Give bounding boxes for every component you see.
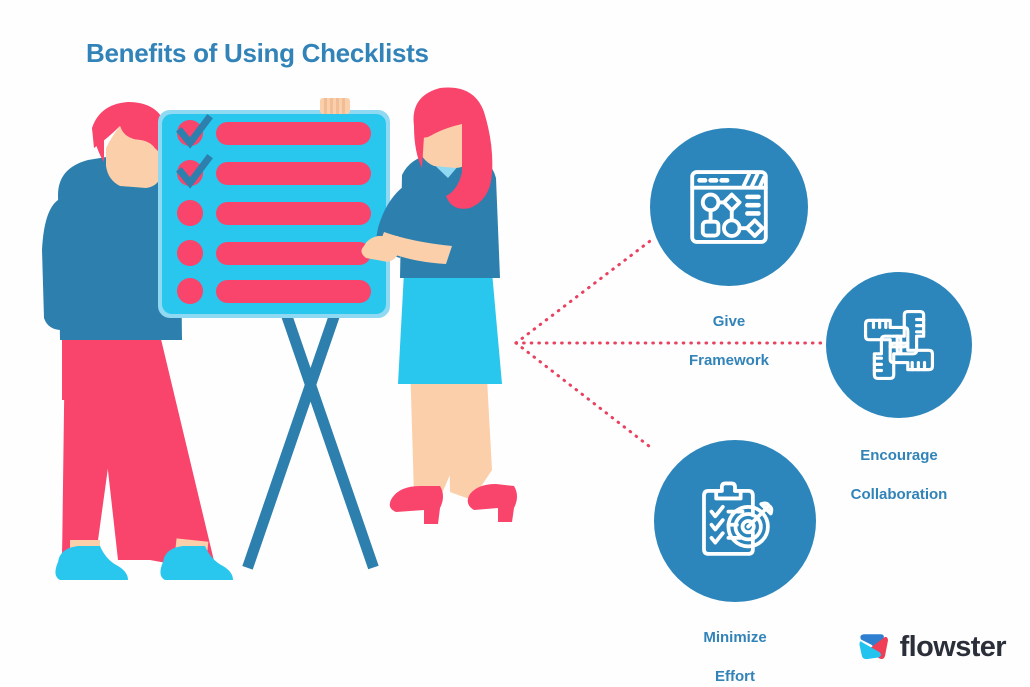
- checklist-illustration: [0, 0, 560, 687]
- node-label-line1: Give: [629, 312, 829, 331]
- node-circle-encourage-collaboration[interactable]: [826, 272, 972, 418]
- node-circle-minimize-effort[interactable]: [654, 440, 816, 602]
- node-label-line1: Encourage: [799, 446, 999, 465]
- node-label-encourage-collaboration: Encourage Collaboration: [799, 427, 999, 523]
- flowster-logo[interactable]: flowster: [855, 629, 1006, 665]
- node-minimize-effort[interactable]: Minimize Effort: [654, 440, 816, 602]
- node-circle-give-framework[interactable]: [650, 128, 808, 286]
- flowchart-icon: [683, 161, 775, 253]
- node-label-line2: Collaboration: [799, 485, 999, 504]
- node-give-framework[interactable]: Give Framework: [650, 128, 808, 286]
- node-encourage-collaboration[interactable]: Encourage Collaboration: [826, 272, 972, 418]
- flowster-logo-mark: [855, 629, 891, 665]
- easel-stand: [242, 310, 378, 569]
- node-label-line2: Effort: [635, 667, 835, 686]
- node-label-minimize-effort: Minimize Effort: [635, 609, 835, 687]
- node-label-give-framework: Give Framework: [629, 293, 829, 389]
- board-clip: [320, 98, 350, 114]
- logo-wordmark: flowster: [900, 631, 1006, 664]
- infographic-canvas: Benefits of Using Checklists: [0, 0, 1030, 687]
- clipboard-target-icon: [688, 474, 782, 568]
- teamwork-hands-icon: [855, 301, 943, 389]
- node-label-line1: Minimize: [635, 628, 835, 647]
- checklist-board: [158, 98, 390, 318]
- node-label-line2: Framework: [629, 351, 829, 370]
